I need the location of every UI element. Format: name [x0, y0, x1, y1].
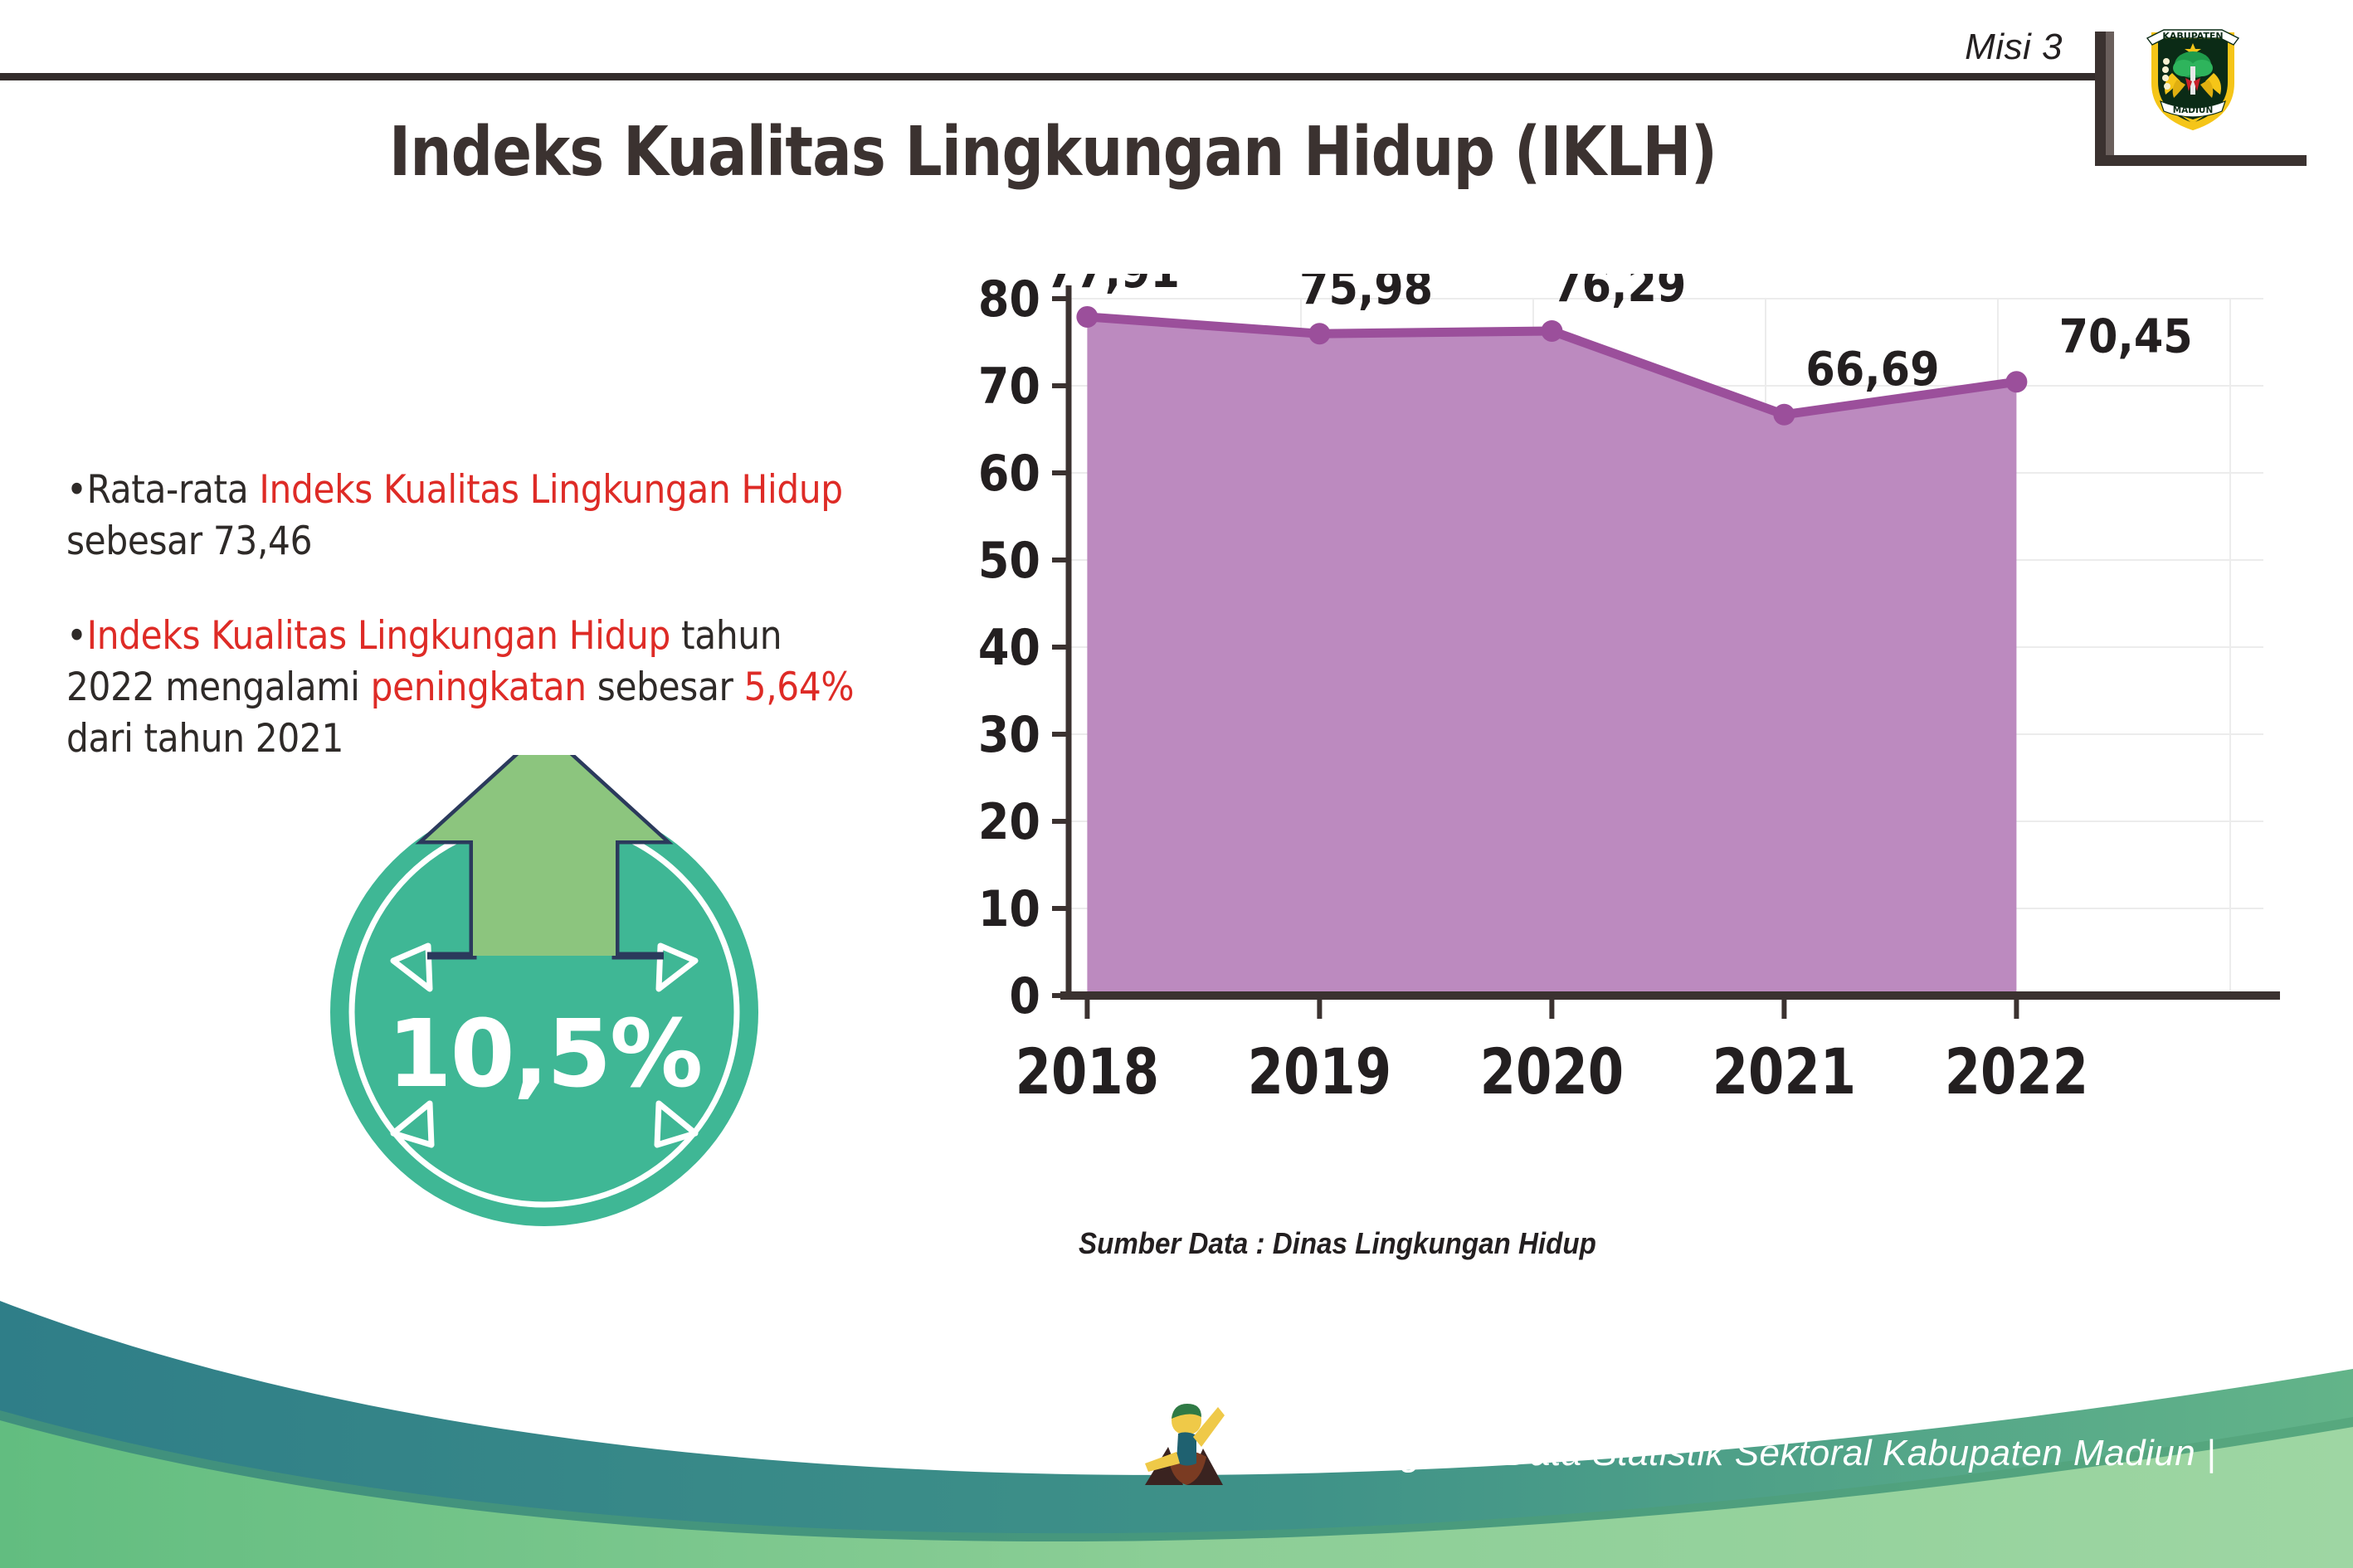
header-divider-rule	[0, 73, 2106, 80]
y-axis-tick-label: 10	[978, 880, 1040, 937]
data-point-marker[interactable]	[2005, 371, 2027, 392]
iklh-area-chart: 77,9175,9876,2966,6970,45010203040506070…	[962, 274, 2290, 1170]
crest-top-banner-text: KABUPATEN	[2162, 31, 2223, 41]
bullet-0-seg-1: Indeks Kualitas Lingkungan Hidup	[259, 467, 842, 513]
bullet-0-seg-2: sebesar 73,46	[66, 519, 312, 564]
bracket-vertical-shadow	[2106, 32, 2114, 159]
x-axis-category-label: 2019	[1248, 1035, 1391, 1109]
badge-percent-label: 10,5%	[329, 1001, 760, 1108]
y-axis-tick-label: 30	[978, 706, 1040, 763]
bullet-marker: •	[66, 613, 87, 659]
y-axis-tick-label: 20	[978, 793, 1040, 850]
data-point-marker[interactable]	[1773, 404, 1795, 426]
bullet-1-seg-2: peningkatan	[371, 665, 587, 710]
kabupaten-madiun-crest-icon: KABUPATEN MADIUN	[2144, 15, 2242, 131]
bracket-horizontal	[2095, 155, 2307, 166]
bullet-0-seg-0: Rata-rata	[87, 467, 260, 513]
bullet-1-seg-4: 5,64%	[744, 665, 855, 710]
crest-bottom-banner-text: MADIUN	[2173, 105, 2214, 115]
list-item: •Indeks Kualitas Lingkungan Hidup tahun …	[66, 611, 858, 765]
footer-text: Media Infografis Data Statistik Sektoral…	[1226, 1433, 2216, 1474]
page-title: Indeks Kualitas Lingkungan Hidup (IKLH)	[148, 113, 1959, 192]
x-axis-category-label: 2021	[1712, 1035, 1856, 1109]
x-axis-category-label: 2022	[1945, 1035, 2088, 1109]
list-item: •Rata-rata Indeks Kualitas Lingkungan Hi…	[66, 465, 858, 567]
bracket-vertical	[2095, 32, 2106, 166]
data-label: 70,45	[2059, 309, 2193, 363]
data-label: 76,29	[1552, 274, 1686, 313]
x-axis-category-label: 2020	[1480, 1035, 1624, 1109]
y-axis-tick-label: 0	[1009, 967, 1040, 1025]
y-axis-tick-label: 70	[978, 358, 1040, 415]
y-axis-tick-label: 60	[978, 445, 1040, 502]
area-fill	[1087, 317, 2016, 996]
data-point-marker[interactable]	[1308, 323, 1330, 344]
misi-label: Misi 3	[1965, 27, 2063, 68]
data-point-marker[interactable]	[1541, 320, 1562, 342]
y-axis-tick-label: 40	[978, 619, 1040, 676]
bullet-1-seg-3: sebesar	[587, 665, 744, 710]
growth-badge: 10,5%	[329, 755, 760, 1228]
media-infografis-figure-icon	[1135, 1387, 1235, 1495]
data-label: 75,98	[1299, 274, 1433, 315]
bullet-1-seg-5: dari tahun 2021	[66, 716, 343, 762]
y-axis-tick-label: 50	[978, 532, 1040, 589]
data-point-marker[interactable]	[1076, 306, 1098, 328]
bullet-1-seg-0: Indeks Kualitas Lingkungan Hidup	[87, 613, 670, 659]
y-axis-tick-label: 80	[978, 274, 1040, 329]
chart-source-note: Sumber Data : Dinas Lingkungan Hidup	[1079, 1226, 1596, 1261]
data-label: 66,69	[1805, 341, 1939, 396]
x-axis-category-label: 2018	[1016, 1035, 1159, 1109]
bullet-marker: •	[66, 467, 87, 513]
